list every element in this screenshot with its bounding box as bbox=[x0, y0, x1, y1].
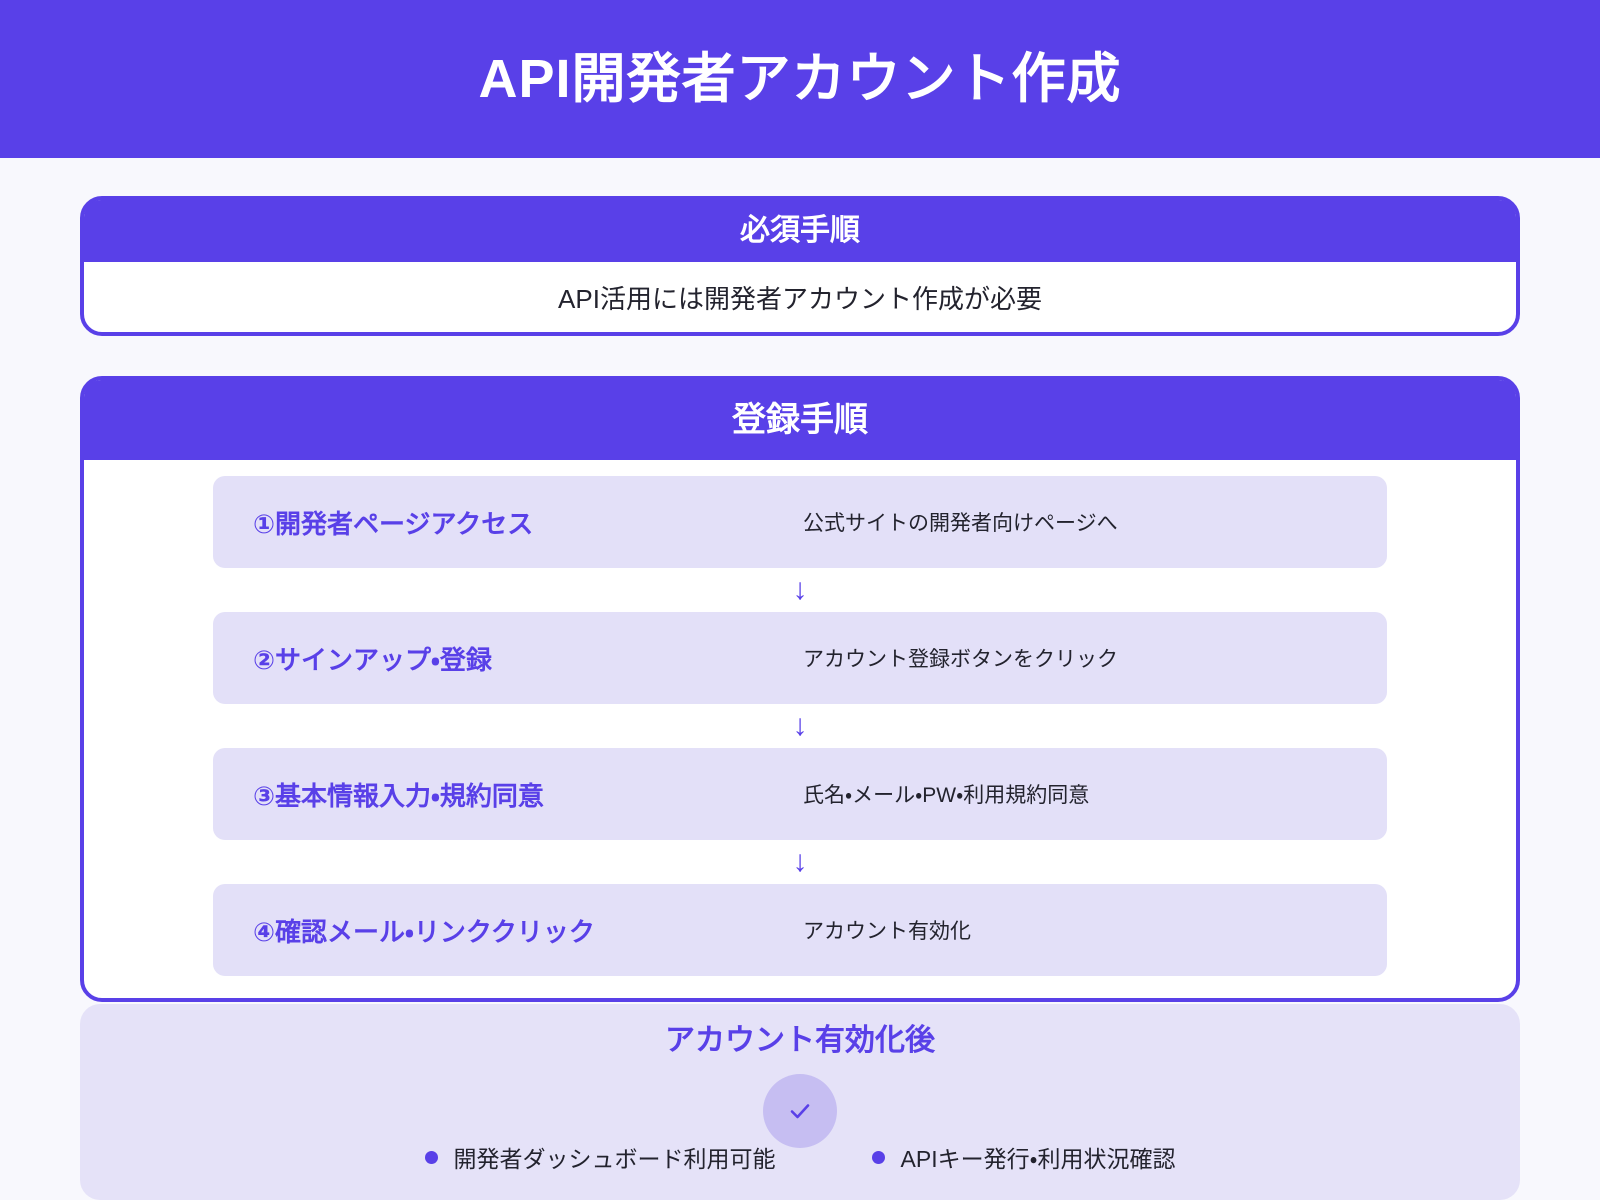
required-card-title: 必須手順 bbox=[84, 200, 1516, 262]
registration-steps-card: 登録手順 ①開発者ページアクセス 公式サイトの開発者向けページへ ↓ ②サインア… bbox=[80, 376, 1520, 1002]
step-label: ②サインアップ・登録 bbox=[213, 640, 803, 677]
steps-card-title: 登録手順 bbox=[84, 380, 1516, 460]
benefit-label: 開発者ダッシュボード利用可能 bbox=[454, 1140, 776, 1174]
step-label: ③基本情報入力・規約同意 bbox=[213, 776, 803, 813]
step-description: 公式サイトの開発者向けページへ bbox=[803, 507, 1118, 537]
step-description: 氏名・メール・PW・利用規約同意 bbox=[803, 779, 1089, 809]
step-row[interactable]: ②サインアップ・登録 アカウント登録ボタンをクリック bbox=[213, 612, 1387, 704]
arrow-down-icon: ↓ bbox=[84, 568, 1516, 612]
step-label: ①開発者ページアクセス bbox=[213, 504, 803, 541]
step-description: アカウント登録ボタンをクリック bbox=[803, 643, 1118, 673]
page-header: API開発者アカウント作成 bbox=[0, 0, 1600, 158]
step-description: アカウント有効化 bbox=[803, 915, 971, 945]
step-label: ④確認メール・リンククリック bbox=[213, 912, 803, 949]
step-row[interactable]: ④確認メール・リンククリック アカウント有効化 bbox=[213, 884, 1387, 976]
required-card-note: API活用には開発者アカウント作成が必要 bbox=[558, 279, 1042, 316]
steps-list: ①開発者ページアクセス 公式サイトの開発者向けページへ ↓ ②サインアップ・登録… bbox=[84, 460, 1516, 976]
required-card-body: API活用には開発者アカウント作成が必要 bbox=[84, 262, 1516, 332]
bullet-icon bbox=[872, 1151, 885, 1164]
content-area: 必須手順 API活用には開発者アカウント作成が必要 登録手順 ①開発者ページアク… bbox=[0, 158, 1600, 1200]
benefits-list: 開発者ダッシュボード利用可能 APIキー発行・利用状況確認 bbox=[80, 1140, 1520, 1174]
bullet-icon bbox=[425, 1151, 438, 1164]
required-steps-card: 必須手順 API活用には開発者アカウント作成が必要 bbox=[80, 196, 1520, 336]
page-title: API開発者アカウント作成 bbox=[478, 52, 1121, 106]
arrow-down-icon: ↓ bbox=[84, 840, 1516, 884]
benefit-label: APIキー発行・利用状況確認 bbox=[901, 1140, 1176, 1174]
list-item: APIキー発行・利用状況確認 bbox=[872, 1140, 1176, 1174]
arrow-down-icon: ↓ bbox=[84, 704, 1516, 748]
step-row[interactable]: ①開発者ページアクセス 公式サイトの開発者向けページへ bbox=[213, 476, 1387, 568]
step-row[interactable]: ③基本情報入力・規約同意 氏名・メール・PW・利用規約同意 bbox=[213, 748, 1387, 840]
list-item: 開発者ダッシュボード利用可能 bbox=[425, 1140, 776, 1174]
check-icon bbox=[763, 1074, 837, 1148]
after-panel-title: アカウント有効化後 bbox=[80, 1026, 1520, 1056]
after-activation-panel: アカウント有効化後 開発者ダッシュボード利用可能 APIキー発行・利用状況確認 bbox=[80, 1004, 1520, 1200]
